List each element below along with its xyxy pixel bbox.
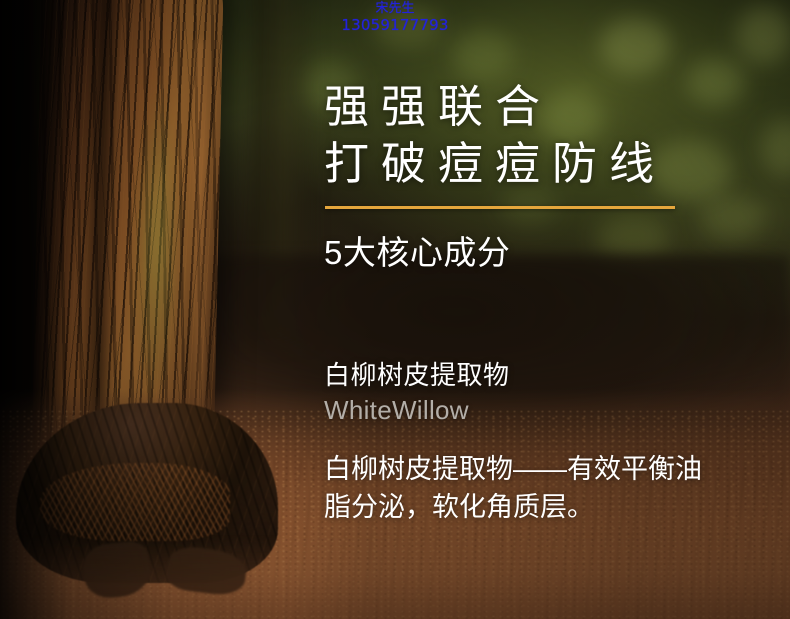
gold-divider	[325, 206, 675, 209]
ingredient-block: 白柳树皮提取物 WhiteWillow	[324, 358, 744, 427]
ingredient-name-en: WhiteWillow	[324, 393, 744, 427]
ingredient-name-cn: 白柳树皮提取物	[324, 358, 744, 392]
contact-info: 宋先生 13059177793	[0, 2, 790, 33]
contact-phone: 13059177793	[0, 17, 790, 34]
contact-name: 宋先生	[0, 2, 790, 17]
product-banner: 宋先生 13059177793 强强联合 打破痘痘防线 5大核心成分 白柳树皮提…	[0, 0, 790, 619]
page-title: 强强联合 打破痘痘防线	[324, 78, 666, 192]
headline-line-2: 打破痘痘防线	[324, 135, 666, 192]
subtitle: 5大核心成分	[324, 226, 510, 274]
headline-line-1: 强强联合	[324, 78, 666, 135]
banner-content: 宋先生 13059177793 强强联合 打破痘痘防线 5大核心成分 白柳树皮提…	[0, 0, 790, 619]
ingredient-description: 白柳树皮提取物——有效平衡油脂分泌，软化角质层。	[324, 450, 720, 526]
